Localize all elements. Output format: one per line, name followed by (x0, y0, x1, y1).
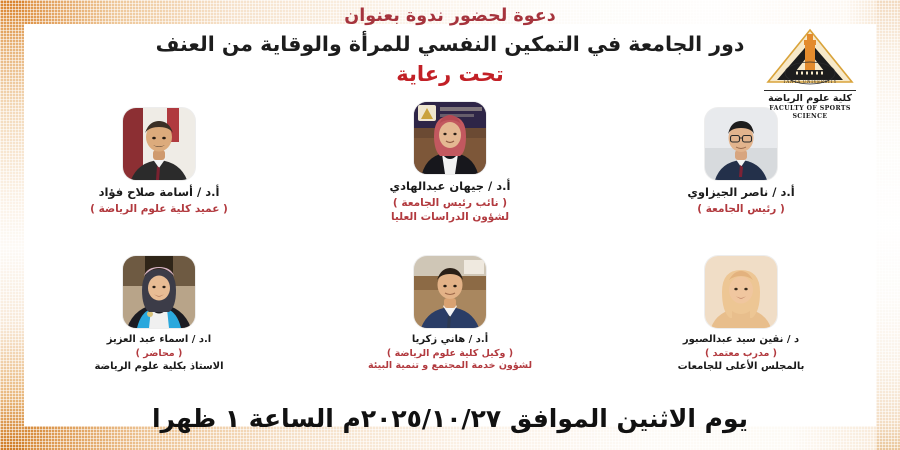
portrait-nasser-elgizawy (705, 108, 777, 180)
person-role-secondary: لشؤون الدراسات العليا (321, 210, 579, 224)
portrait-gihan-abdelhadi (414, 102, 486, 174)
logo-arabic-label: كلية علوم الرياضة (755, 93, 865, 104)
person-name: د / نقين سيد عبدالصبور (612, 333, 870, 347)
portrait-nagheen-sayed-abdelsabour (705, 256, 777, 328)
portrait-hany-zakaria (414, 256, 486, 328)
poster-root: دعوة لحضور ندوة بعنوان دور الجامعة في ال… (0, 0, 900, 450)
person-card-nagheen-sayed-abdelsabour: د / نقين سيد عبدالصبور ( مدرب معتمد ) با… (612, 256, 870, 374)
person-card-gihan-abdelhadi: أ.د / جيهان عبدالهادي ( نائب رئيس الجامع… (321, 102, 579, 224)
invitation-line: دعوة لحضور ندوة بعنوان (0, 6, 900, 28)
person-name: أ.د / جيهان عبدالهادي (321, 179, 579, 195)
portrait-asmaa-abdelaziz (123, 256, 195, 328)
person-note: الاستاذ بكلية علوم الرياضة (30, 360, 288, 374)
people-row-2: د / نقين سيد عبدالصبور ( مدرب معتمد ) با… (30, 256, 870, 386)
person-role: ( وكيل كلية علوم الرياضة ) (321, 348, 579, 361)
person-name: أ.د / هاني زكريا (321, 333, 579, 347)
person-role-secondary: لشؤون خدمة المجتمع و تنمية البيئة (321, 360, 579, 373)
person-role: ( عميد كلية علوم الرياضة ) (30, 202, 288, 216)
portrait-osama-salah-fouad (123, 108, 195, 180)
person-role: ( محاضر ) (30, 348, 288, 361)
person-card-asmaa-abdelaziz: ا.د / اسماء عبد العزيز ( محاضر ) الاستاذ… (30, 256, 288, 374)
people-row-1: أ.د / ناصر الجيزاوي ( رئيس الجامعة ) (30, 108, 870, 248)
poster-content: دعوة لحضور ندوة بعنوان دور الجامعة في ال… (0, 0, 900, 450)
svg-text:TANTA UNIVERSITY: TANTA UNIVERSITY (783, 79, 837, 84)
person-role: ( رئيس الجامعة ) (612, 202, 870, 216)
person-card-hany-zakaria: أ.د / هاني زكريا ( وكيل كلية علوم الرياض… (321, 256, 579, 373)
person-card-osama-salah-fouad: أ.د / أسامة صلاح فؤاد ( عميد كلية علوم ا… (30, 108, 288, 216)
person-name: أ.د / ناصر الجيزاوي (612, 185, 870, 201)
people-grid: أ.د / ناصر الجيزاوي ( رئيس الجامعة ) (30, 108, 870, 386)
person-role: ( نائب رئيس الجامعة ) (321, 196, 579, 210)
person-card-nasser-elgizawy: أ.د / ناصر الجيزاوي ( رئيس الجامعة ) (612, 108, 870, 216)
university-emblem-icon: TANTA UNIVERSITY (755, 26, 865, 88)
logo-divider (764, 90, 856, 91)
person-role: ( مدرب معتمد ) (612, 348, 870, 361)
person-name: أ.د / أسامة صلاح فؤاد (30, 185, 288, 201)
person-name: ا.د / اسماء عبد العزيز (30, 333, 288, 347)
event-date-line: يوم الاثنين الموافق ٢٠٢٥/١٠/٢٧م الساعة ١… (0, 404, 900, 433)
person-note: بالمجلس الأعلى للجامعات (612, 360, 870, 374)
